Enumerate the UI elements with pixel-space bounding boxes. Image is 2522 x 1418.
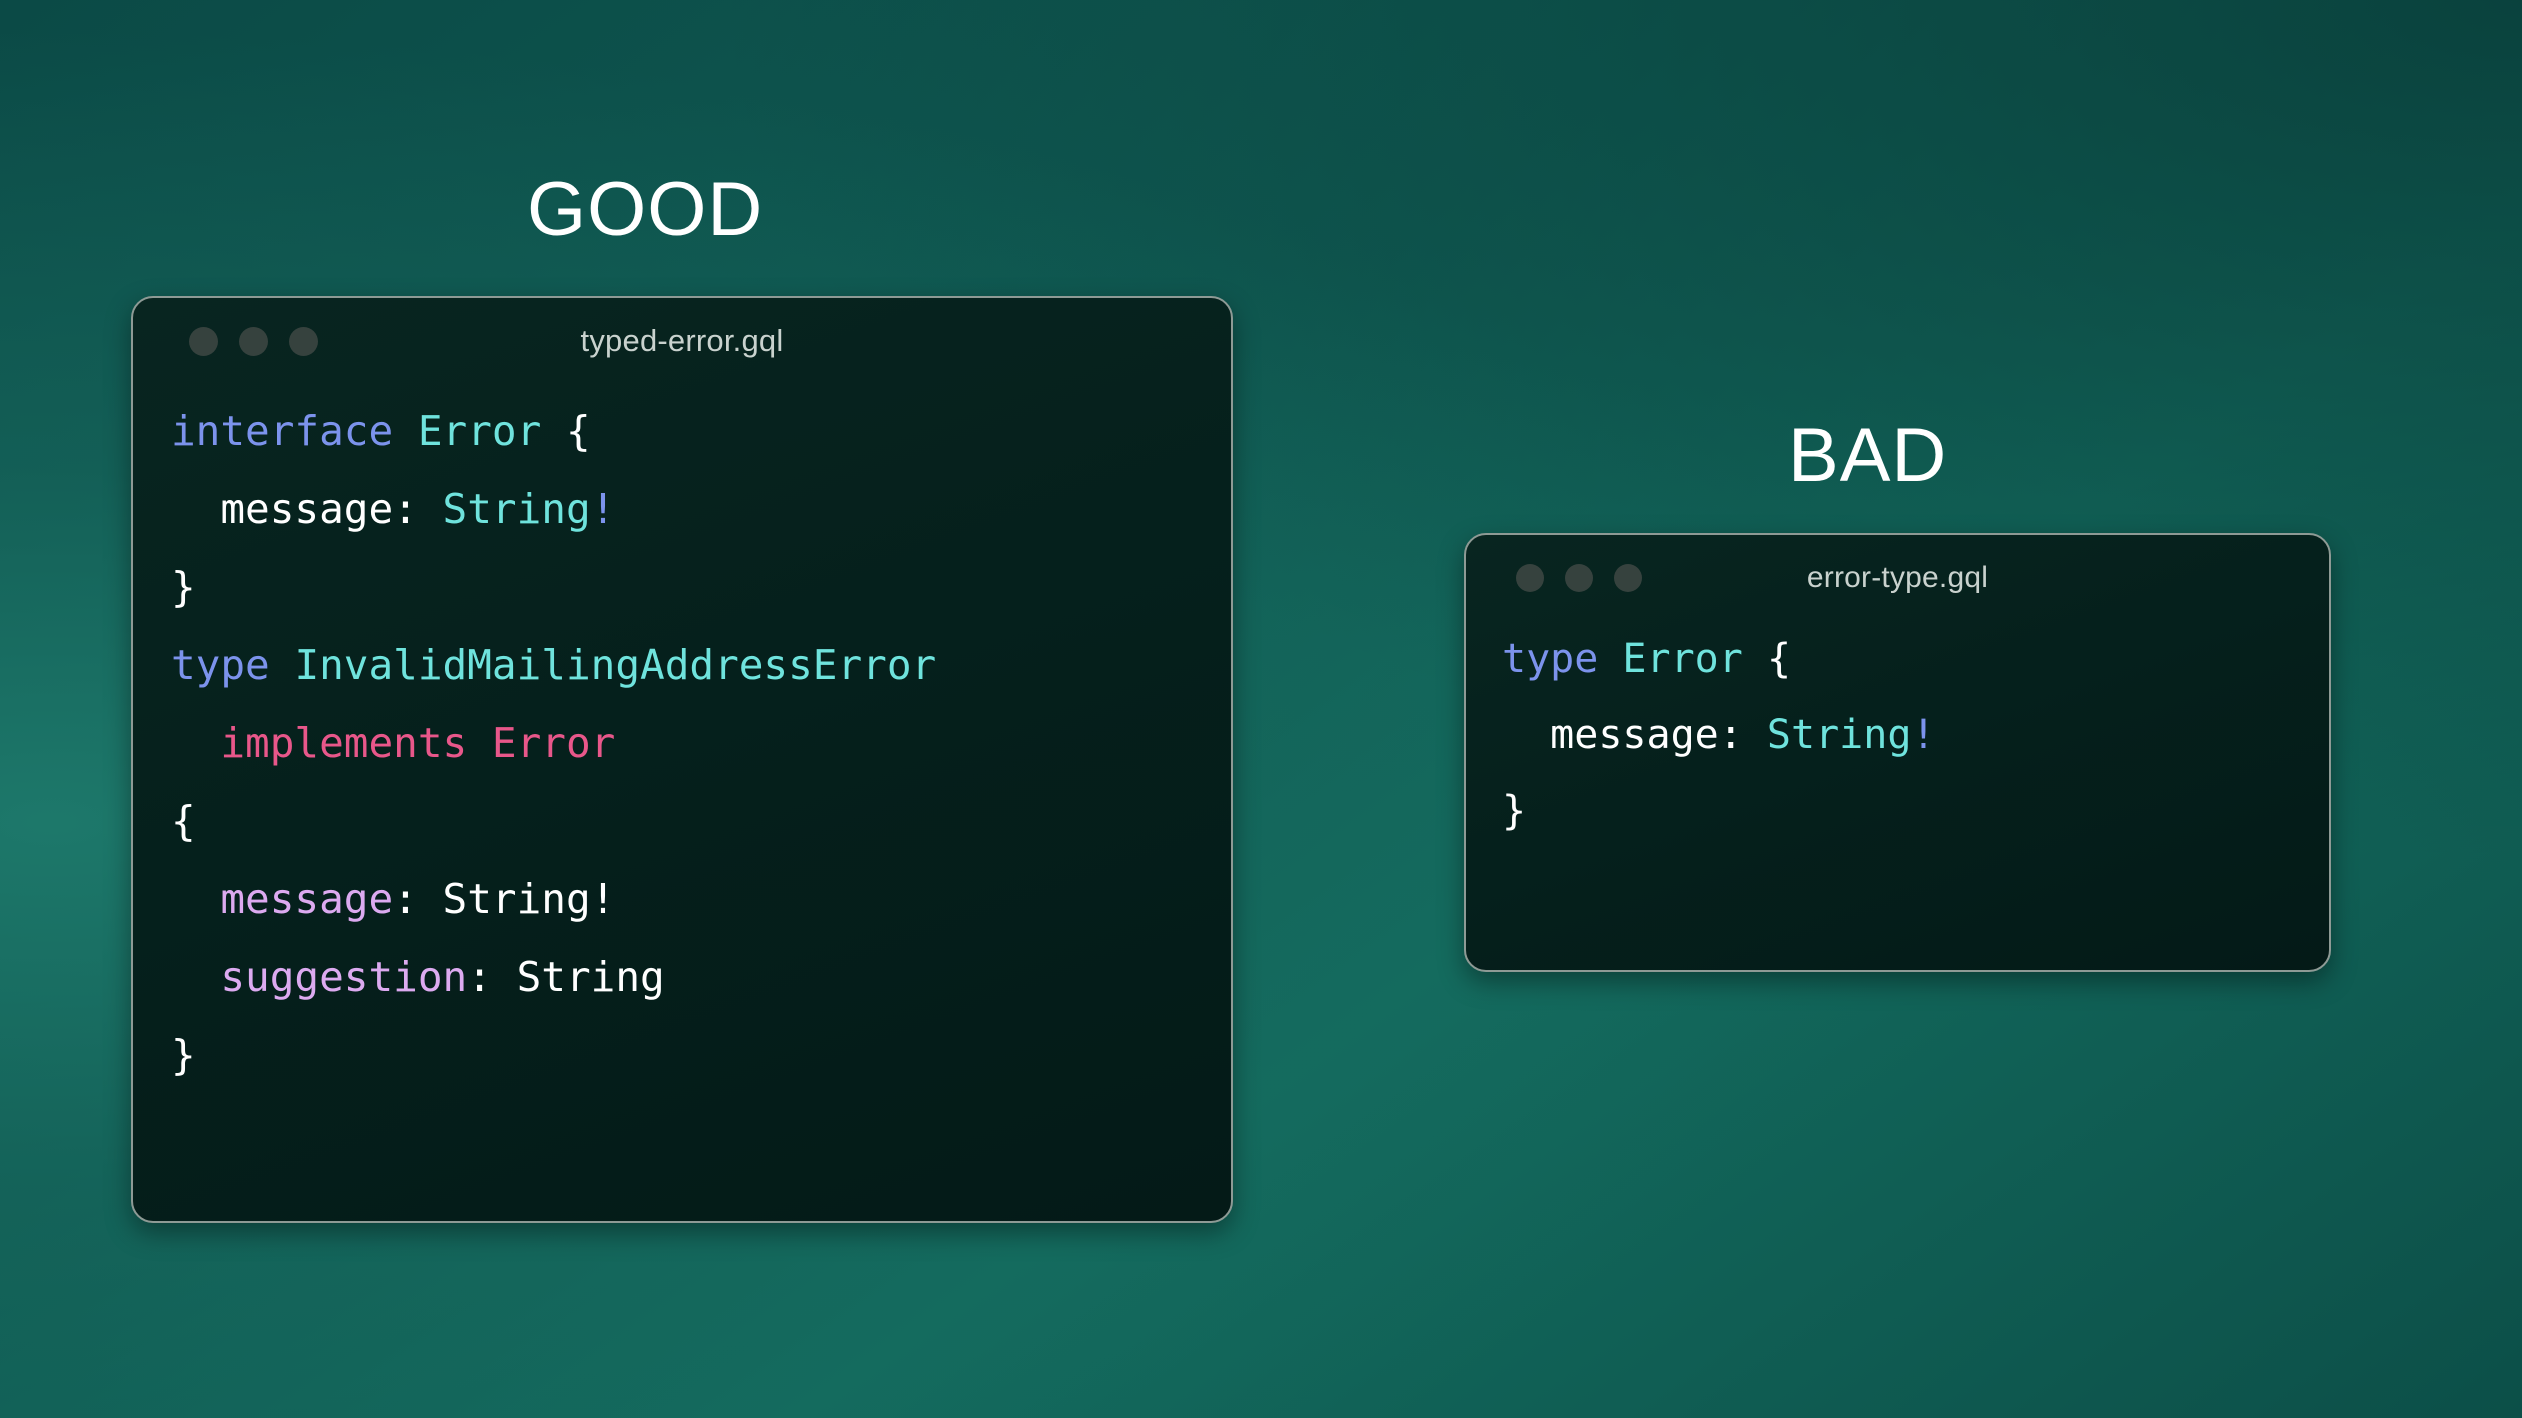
code-token-plain bbox=[171, 875, 220, 923]
code-token-punct: } bbox=[171, 1031, 196, 1079]
code-token-plain bbox=[1743, 636, 1767, 682]
code-token-type: Error bbox=[418, 407, 541, 455]
code-token-type: Error bbox=[1622, 636, 1742, 682]
code-token-field: message bbox=[1550, 712, 1719, 758]
window-controls-bad bbox=[1516, 564, 1642, 592]
code-token-plain bbox=[1502, 712, 1550, 758]
code-token-punct: : bbox=[467, 953, 516, 1001]
code-token-bang: ! bbox=[591, 485, 616, 533]
code-token-plain: String bbox=[517, 953, 665, 1001]
code-token-punct: : bbox=[393, 875, 442, 923]
maximize-dot-icon[interactable] bbox=[289, 327, 318, 356]
code-token-plain bbox=[1598, 636, 1622, 682]
code-token-plain bbox=[393, 407, 418, 455]
minimize-dot-icon[interactable] bbox=[239, 327, 268, 356]
maximize-dot-icon[interactable] bbox=[1614, 564, 1642, 592]
code-token-field-purple: message bbox=[220, 875, 393, 923]
code-token-punct: { bbox=[1767, 636, 1791, 682]
window-controls-good bbox=[189, 327, 318, 356]
code-token-implements: implements Error bbox=[220, 719, 615, 767]
code-token-punct: { bbox=[566, 407, 591, 455]
close-dot-icon[interactable] bbox=[1516, 564, 1544, 592]
code-token-keyword: type bbox=[171, 641, 270, 689]
window-titlebar-good: typed-error.gql bbox=[133, 298, 1231, 384]
code-line: suggestion: String bbox=[171, 938, 1231, 1016]
code-window-bad: error-type.gql type Error { message: Str… bbox=[1464, 533, 2331, 972]
heading-bad: BAD bbox=[1788, 418, 1947, 494]
code-token-plain: String! bbox=[443, 875, 616, 923]
code-token-plain bbox=[270, 641, 295, 689]
code-token-plain bbox=[171, 485, 220, 533]
code-token-punct: : bbox=[1719, 712, 1767, 758]
close-dot-icon[interactable] bbox=[189, 327, 218, 356]
code-block-bad[interactable]: type Error { message: String!} bbox=[1466, 621, 2329, 849]
code-line: implements Error bbox=[171, 704, 1231, 782]
code-line: type Error { bbox=[1502, 621, 2329, 697]
code-token-punct: } bbox=[1502, 788, 1526, 834]
code-line: } bbox=[1502, 773, 2329, 849]
code-token-type: InvalidMailingAddressError bbox=[294, 641, 936, 689]
code-line: message: String! bbox=[171, 860, 1231, 938]
code-line: type InvalidMailingAddressError bbox=[171, 626, 1231, 704]
code-line: { bbox=[171, 782, 1231, 860]
heading-good: GOOD bbox=[527, 172, 763, 248]
code-token-punct: : bbox=[393, 485, 442, 533]
code-token-plain bbox=[171, 953, 220, 1001]
code-token-bang: ! bbox=[1911, 712, 1935, 758]
window-titlebar-bad: error-type.gql bbox=[1466, 535, 2329, 621]
code-token-type: String bbox=[443, 485, 591, 533]
code-line: message: String! bbox=[171, 470, 1231, 548]
code-token-field-purple: suggestion bbox=[220, 953, 467, 1001]
code-token-punct: } bbox=[171, 563, 196, 611]
code-token-keyword: type bbox=[1502, 636, 1598, 682]
code-token-keyword: interface bbox=[171, 407, 393, 455]
code-line: message: String! bbox=[1502, 697, 2329, 773]
code-token-field: message bbox=[220, 485, 393, 533]
minimize-dot-icon[interactable] bbox=[1565, 564, 1593, 592]
code-token-plain bbox=[171, 719, 220, 767]
code-token-type: String bbox=[1767, 712, 1912, 758]
code-line: } bbox=[171, 548, 1231, 626]
code-token-plain bbox=[541, 407, 566, 455]
code-block-good[interactable]: interface Error { message: String!}type … bbox=[133, 384, 1231, 1094]
code-line: interface Error { bbox=[171, 392, 1231, 470]
code-line: } bbox=[171, 1016, 1231, 1094]
code-window-good: typed-error.gql interface Error { messag… bbox=[131, 296, 1233, 1223]
code-token-punct: { bbox=[171, 797, 196, 845]
slide-canvas: GOOD BAD typed-error.gql interface Error… bbox=[0, 0, 2522, 1418]
